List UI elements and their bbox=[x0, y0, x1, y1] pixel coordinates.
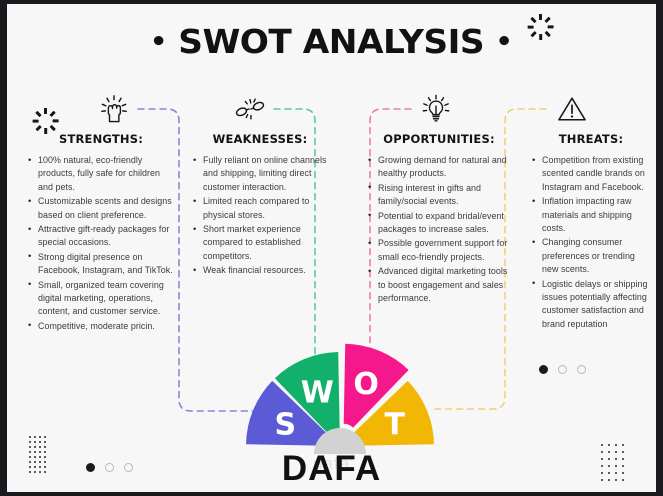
list-item: Logistic delays or shipping issues poten… bbox=[542, 278, 653, 332]
wheel-segment-label: S bbox=[274, 407, 296, 442]
grid-dot bbox=[44, 436, 46, 438]
broken-chain-icon bbox=[234, 95, 266, 123]
wheel-segment-label: T bbox=[384, 407, 405, 442]
column-heading-opportunities: OPPORTUNITIES: bbox=[365, 132, 513, 146]
sparkle-burst-icon bbox=[33, 108, 59, 134]
list-item: Advanced digital marketing tools to boos… bbox=[378, 265, 513, 305]
bullet-list-weaknesses: Fully reliant on online channels and shi… bbox=[190, 154, 330, 278]
column-heading-threats: THREATS: bbox=[529, 132, 653, 146]
bullet-list-opportunities: Growing demand for natural and healthy p… bbox=[365, 154, 513, 305]
grid-dot bbox=[39, 446, 41, 448]
list-item: Changing consumer preferences or trendin… bbox=[542, 236, 653, 276]
list-item: Short market experience compared to esta… bbox=[203, 223, 330, 263]
grid-dot bbox=[29, 436, 31, 438]
list-item: Growing demand for natural and healthy p… bbox=[378, 154, 513, 181]
brand-name: DAFA bbox=[7, 449, 656, 489]
column-heading-strengths: STRENGTHS: bbox=[25, 132, 177, 146]
list-item: Competitive, moderate pricin. bbox=[38, 320, 177, 333]
grid-dot bbox=[615, 444, 617, 446]
bullet-list-threats: Competition from existing scented candle… bbox=[529, 154, 653, 331]
icon-bubble-threats[interactable] bbox=[548, 85, 596, 133]
grid-dot bbox=[44, 446, 46, 448]
icon-bubble-weaknesses[interactable] bbox=[226, 85, 274, 133]
list-item: Small, organized team covering digital m… bbox=[38, 279, 177, 319]
list-item: Possible government support for small ec… bbox=[378, 237, 513, 264]
warning-triangle-icon bbox=[557, 95, 587, 123]
pagination-dots-right[interactable] bbox=[539, 365, 586, 374]
grid-dot bbox=[29, 441, 31, 443]
grid-dot bbox=[44, 441, 46, 443]
icon-bubble-opportunities[interactable] bbox=[412, 85, 460, 133]
column-heading-weaknesses: WEAKNESSES: bbox=[190, 132, 330, 146]
grid-dot bbox=[39, 436, 41, 438]
slide-canvas: • SWOT ANALYSIS • bbox=[7, 4, 656, 492]
pagination-dot[interactable] bbox=[539, 365, 548, 374]
grid-dot bbox=[601, 444, 603, 446]
grid-dot bbox=[29, 446, 31, 448]
grid-dot bbox=[34, 441, 36, 443]
list-item: Potential to expand bridal/event package… bbox=[378, 210, 513, 237]
raised-fist-icon bbox=[99, 94, 129, 124]
icon-bubble-strengths[interactable] bbox=[90, 85, 138, 133]
pagination-dot[interactable] bbox=[577, 365, 586, 374]
grid-dot bbox=[34, 436, 36, 438]
list-item: Limited reach compared to physical store… bbox=[203, 195, 330, 222]
list-item: Weak financial resources. bbox=[203, 264, 330, 277]
grid-dot bbox=[39, 441, 41, 443]
column-threats: THREATS: Competition from existing scent… bbox=[529, 132, 653, 332]
grid-dot bbox=[608, 444, 610, 446]
lightbulb-icon bbox=[421, 94, 451, 124]
wheel-segment-label: W bbox=[301, 375, 334, 410]
pagination-dot[interactable] bbox=[558, 365, 567, 374]
column-strengths: STRENGTHS: 100% natural, eco-friendly pr… bbox=[25, 132, 177, 334]
list-item: Customizable scents and designs based on… bbox=[38, 195, 177, 222]
grid-dot bbox=[622, 444, 624, 446]
title-dot-right: • bbox=[496, 27, 513, 57]
list-item: Strong digital presence on Facebook, Ins… bbox=[38, 251, 177, 278]
wheel-segment-label: O bbox=[353, 367, 379, 402]
column-weaknesses: WEAKNESSES: Fully reliant on online chan… bbox=[190, 132, 330, 279]
page-title-row: • SWOT ANALYSIS • bbox=[7, 22, 656, 61]
list-item: Rising interest in gifts and family/soci… bbox=[378, 182, 513, 209]
title-dot-left: • bbox=[150, 27, 167, 57]
swot-wheel-graphic: SWOT bbox=[240, 342, 440, 452]
list-item: Inflation impacting raw materials and sh… bbox=[542, 195, 653, 235]
list-item: 100% natural, eco-friendly products, ful… bbox=[38, 154, 177, 194]
column-opportunities: OPPORTUNITIES: Growing demand for natura… bbox=[365, 132, 513, 306]
bullet-list-strengths: 100% natural, eco-friendly products, ful… bbox=[25, 154, 177, 333]
sparkle-burst-icon bbox=[528, 14, 554, 40]
page-title-text: SWOT ANALYSIS bbox=[179, 22, 485, 61]
list-item: Fully reliant on online channels and shi… bbox=[203, 154, 330, 194]
list-item: Competition from existing scented candle… bbox=[542, 154, 653, 194]
grid-dot bbox=[34, 446, 36, 448]
list-item: Attractive gift-ready packages for speci… bbox=[38, 223, 177, 250]
page-title: • SWOT ANALYSIS • bbox=[150, 22, 512, 61]
